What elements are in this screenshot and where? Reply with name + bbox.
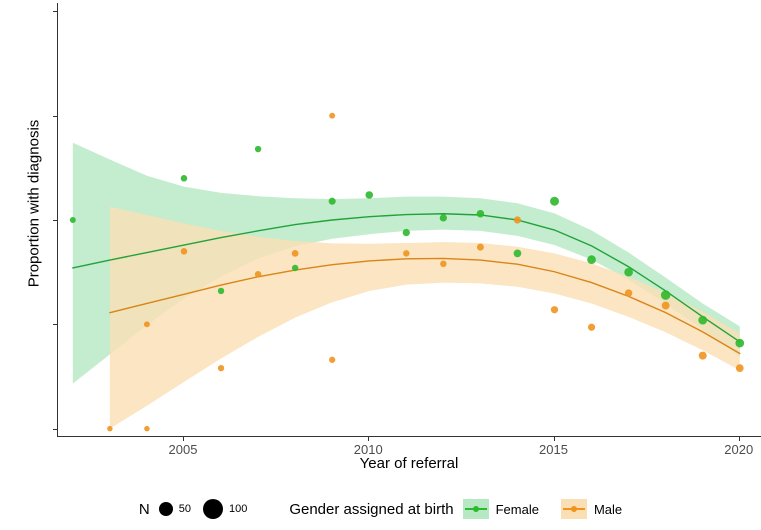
data-point[interactable] [440,214,447,221]
data-point[interactable] [661,290,670,299]
data-point[interactable] [329,357,335,363]
x-axis-label: Year of referral [57,455,761,472]
x-tick-mark [739,437,740,441]
data-point[interactable] [70,217,76,223]
y-axis-label: Proportion with diagnosis [26,74,43,334]
chart-root: Proportion with diagnosis Year of referr… [0,0,761,530]
data-point[interactable] [255,146,261,152]
data-point[interactable] [514,216,521,223]
legend-dot-male-icon [571,506,577,512]
data-point[interactable] [255,271,261,277]
x-tick-label: 2005 [153,443,213,456]
data-point[interactable] [292,265,298,271]
data-point[interactable] [144,321,150,327]
data-point[interactable] [144,426,150,432]
size-dot-small-icon [159,502,173,516]
data-point[interactable] [403,250,409,256]
x-tick-label: 2010 [338,443,398,456]
legend-dot-female-icon [473,506,479,512]
size-legend: N 50 100 [139,499,253,519]
data-point[interactable] [477,210,485,218]
data-point[interactable] [218,365,224,371]
data-point[interactable] [514,250,522,258]
chart-legend: N 50 100 Gender assigned at birth Female [0,488,761,530]
x-tick-mark [554,437,555,441]
data-point[interactable] [365,191,373,199]
x-tick-label: 2015 [524,443,584,456]
colour-legend: Gender assigned at birth Female Male [289,499,622,519]
data-point[interactable] [662,302,670,310]
x-tick-mark [183,437,184,441]
data-point[interactable] [292,250,299,257]
data-point[interactable] [329,113,335,119]
data-point[interactable] [403,229,410,236]
data-point[interactable] [181,175,188,182]
confidence-ribbon-male [110,207,740,429]
size-legend-item-50[interactable]: 50 [159,502,191,516]
colour-legend-title: Gender assigned at birth [289,501,453,518]
data-point[interactable] [736,364,744,372]
data-point[interactable] [550,197,559,206]
data-point[interactable] [107,426,113,432]
data-point[interactable] [698,316,707,325]
data-point[interactable] [477,244,484,251]
data-point[interactable] [551,306,558,313]
data-point[interactable] [735,339,744,348]
plot-panel [57,3,761,437]
legend-label-female: Female [496,502,539,517]
data-point[interactable] [587,255,596,264]
size-legend-item-100[interactable]: 100 [197,499,247,519]
data-point[interactable] [624,268,633,277]
data-point[interactable] [181,248,188,255]
data-point[interactable] [588,324,595,331]
size-legend-label-50: 50 [179,503,191,515]
x-tick-mark [368,437,369,441]
x-tick-label: 2020 [709,443,761,456]
data-point[interactable] [329,198,336,205]
size-legend-label-100: 100 [229,503,247,515]
legend-key-female-icon[interactable] [463,499,489,519]
size-legend-title: N [139,501,150,518]
data-point[interactable] [440,261,446,267]
data-point[interactable] [699,352,707,360]
data-point[interactable] [625,289,632,296]
size-dot-large-icon [203,499,223,519]
data-point[interactable] [218,288,224,294]
legend-label-male: Male [594,502,622,517]
plot-svg [58,3,761,437]
legend-key-male-icon[interactable] [561,499,587,519]
